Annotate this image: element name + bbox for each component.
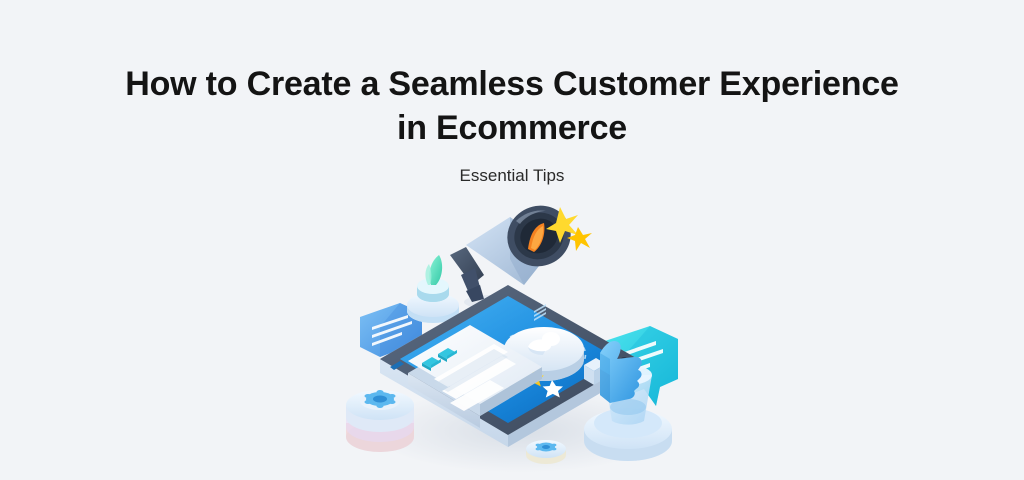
small-gear-disc	[526, 440, 566, 464]
potted-plant	[407, 255, 459, 323]
gear-stack	[346, 390, 414, 452]
page-title-line-2: in Ecommerce	[397, 109, 627, 147]
small-gear-icon	[536, 443, 557, 452]
hero-illustration	[338, 193, 694, 480]
page-subtitle: Essential Tips	[0, 166, 1024, 186]
page-title: How to Create a Seamless Customer Experi…	[112, 62, 912, 150]
page-title-line-1: How to Create a Seamless Customer Experi…	[125, 65, 899, 103]
page-root: How to Create a Seamless Customer Experi…	[0, 0, 1024, 480]
